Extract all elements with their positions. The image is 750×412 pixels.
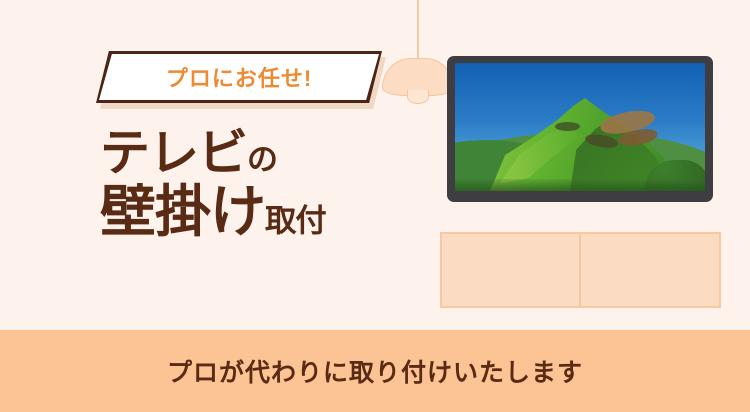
headline-line-2-main: 壁掛け: [100, 180, 265, 243]
tv-screen: [455, 63, 705, 191]
headline-line-2: 壁掛け取付: [100, 184, 430, 240]
rock-patch-d: [555, 122, 580, 131]
ribbon-label: プロにお任せ!: [166, 61, 312, 93]
headline-line-2-suffix: 取付: [265, 203, 326, 238]
lamp-bulb: [407, 90, 429, 104]
headline-line-1-suffix: の: [247, 142, 277, 177]
pendant-lamp-icon: [382, 0, 454, 115]
ribbon-badge: プロにお任せ!: [96, 51, 386, 107]
cabinet-door-left: [442, 234, 581, 306]
tv-wall-mount-banner: プロにお任せ! テレビの 壁掛け取付 プロが代わりに取り付けいたします: [0, 0, 750, 412]
page-title: テレビの 壁掛け取付: [100, 128, 430, 240]
ribbon-inner: プロにお任せ!: [99, 54, 379, 100]
lamp-cord: [417, 0, 419, 62]
cabinet-door-right: [581, 234, 720, 306]
grass-foreground: [455, 179, 705, 191]
headline-line-1: テレビの: [100, 128, 430, 178]
television-icon: [447, 56, 713, 202]
tv-stand-icon: [440, 232, 721, 308]
caption-text: プロが代わりに取り付けいたします: [167, 353, 583, 389]
headline-line-1-main: テレビ: [100, 125, 247, 181]
caption-bar: プロが代わりに取り付けいたします: [0, 330, 750, 412]
ribbon-border: プロにお任せ!: [96, 51, 382, 103]
